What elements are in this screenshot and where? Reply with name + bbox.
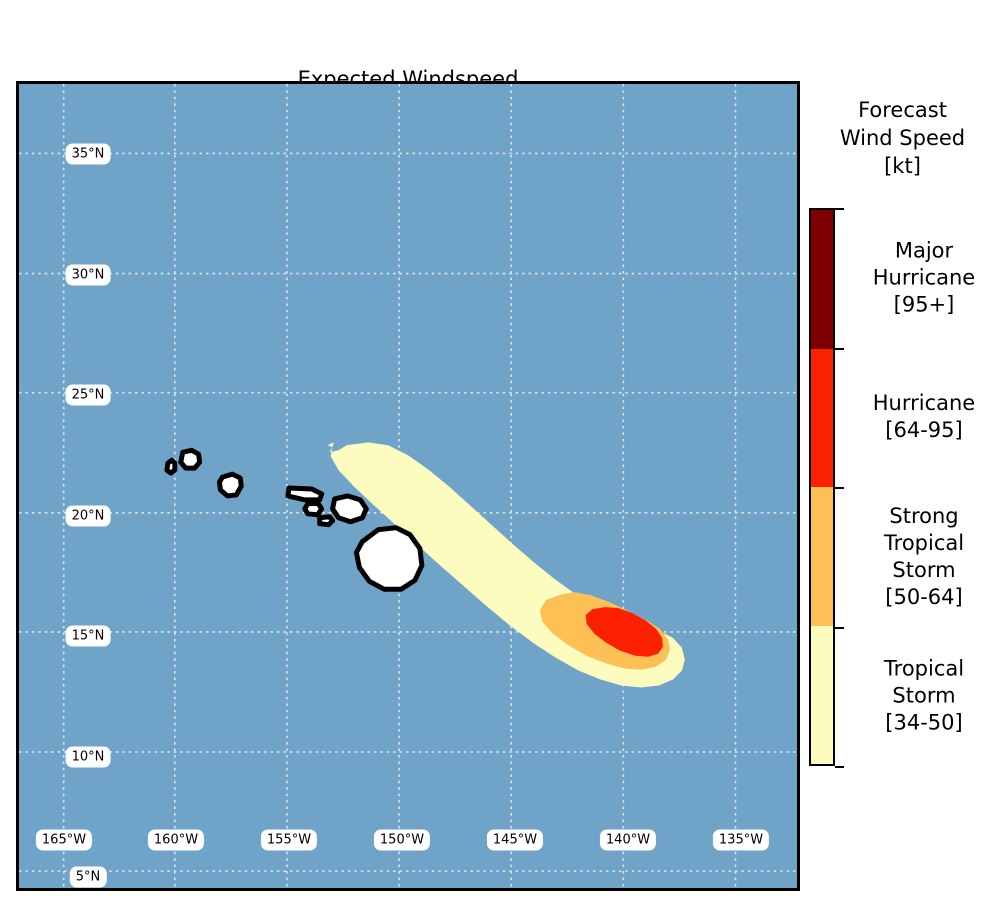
colorbar-label-hurricane: Hurricane [64-95] [849,390,989,444]
lat-label-25n: 25°N [66,385,111,406]
island-lanai [305,503,322,515]
island-niihau [167,460,175,473]
lat-label-35n: 35°N [66,144,111,165]
colorbar-segment-tropical-storm[interactable] [811,626,833,765]
colorbar-segment-hurricane[interactable] [811,349,833,487]
lat-label-30n: 30°N [66,265,111,286]
lon-label-140w: 140°W [600,830,656,851]
island-kahoolawe [320,517,333,525]
colorbar-label-tropical-storm: Tropical Storm [34-50] [849,656,989,737]
lon-label-150w: 150°W [374,830,430,851]
colorbar-tick-top [835,208,844,210]
lat-label-20n: 20°N [66,506,111,527]
colorbar-bar[interactable] [809,208,835,766]
colorbar-heading: Forecast Wind Speed [kt] [816,96,989,180]
island-maui [333,496,367,522]
island-oahu [219,474,241,496]
island-molokai [288,488,322,500]
colorbar-tick-50 [835,627,844,629]
lat-label-15n: 15°N [66,626,111,647]
lat-label-10n: 10°N [66,747,111,768]
lon-label-135w: 135°W [713,830,769,851]
colorbar-segment-major-hurricane[interactable] [811,210,833,349]
colorbar-segment-strong-tropical-storm[interactable] [811,487,833,626]
map-panel[interactable]: 35°N 30°N 25°N 20°N 15°N 10°N 5°N 165°W … [16,81,800,891]
island-hawaii [356,528,421,590]
colorbar-label-major-hurricane: Major Hurricane [95+] [849,237,989,318]
map-canvas [19,84,797,888]
colorbar-tick-34 [835,766,844,768]
colorbar-tick-95 [835,348,844,350]
colorbar[interactable]: Major Hurricane [95+] Hurricane [64-95] … [809,208,835,766]
lat-label-5n: 5°N [70,867,107,888]
lon-label-145w: 145°W [487,830,543,851]
island-kauai [181,450,200,468]
lon-label-155w: 155°W [261,830,317,851]
colorbar-label-strong-tropical-storm: Strong Tropical Storm [50-64] [849,503,989,611]
lon-label-165w: 165°W [36,830,92,851]
colorbar-tick-64 [835,487,844,489]
lon-label-160w: 160°W [148,830,204,851]
